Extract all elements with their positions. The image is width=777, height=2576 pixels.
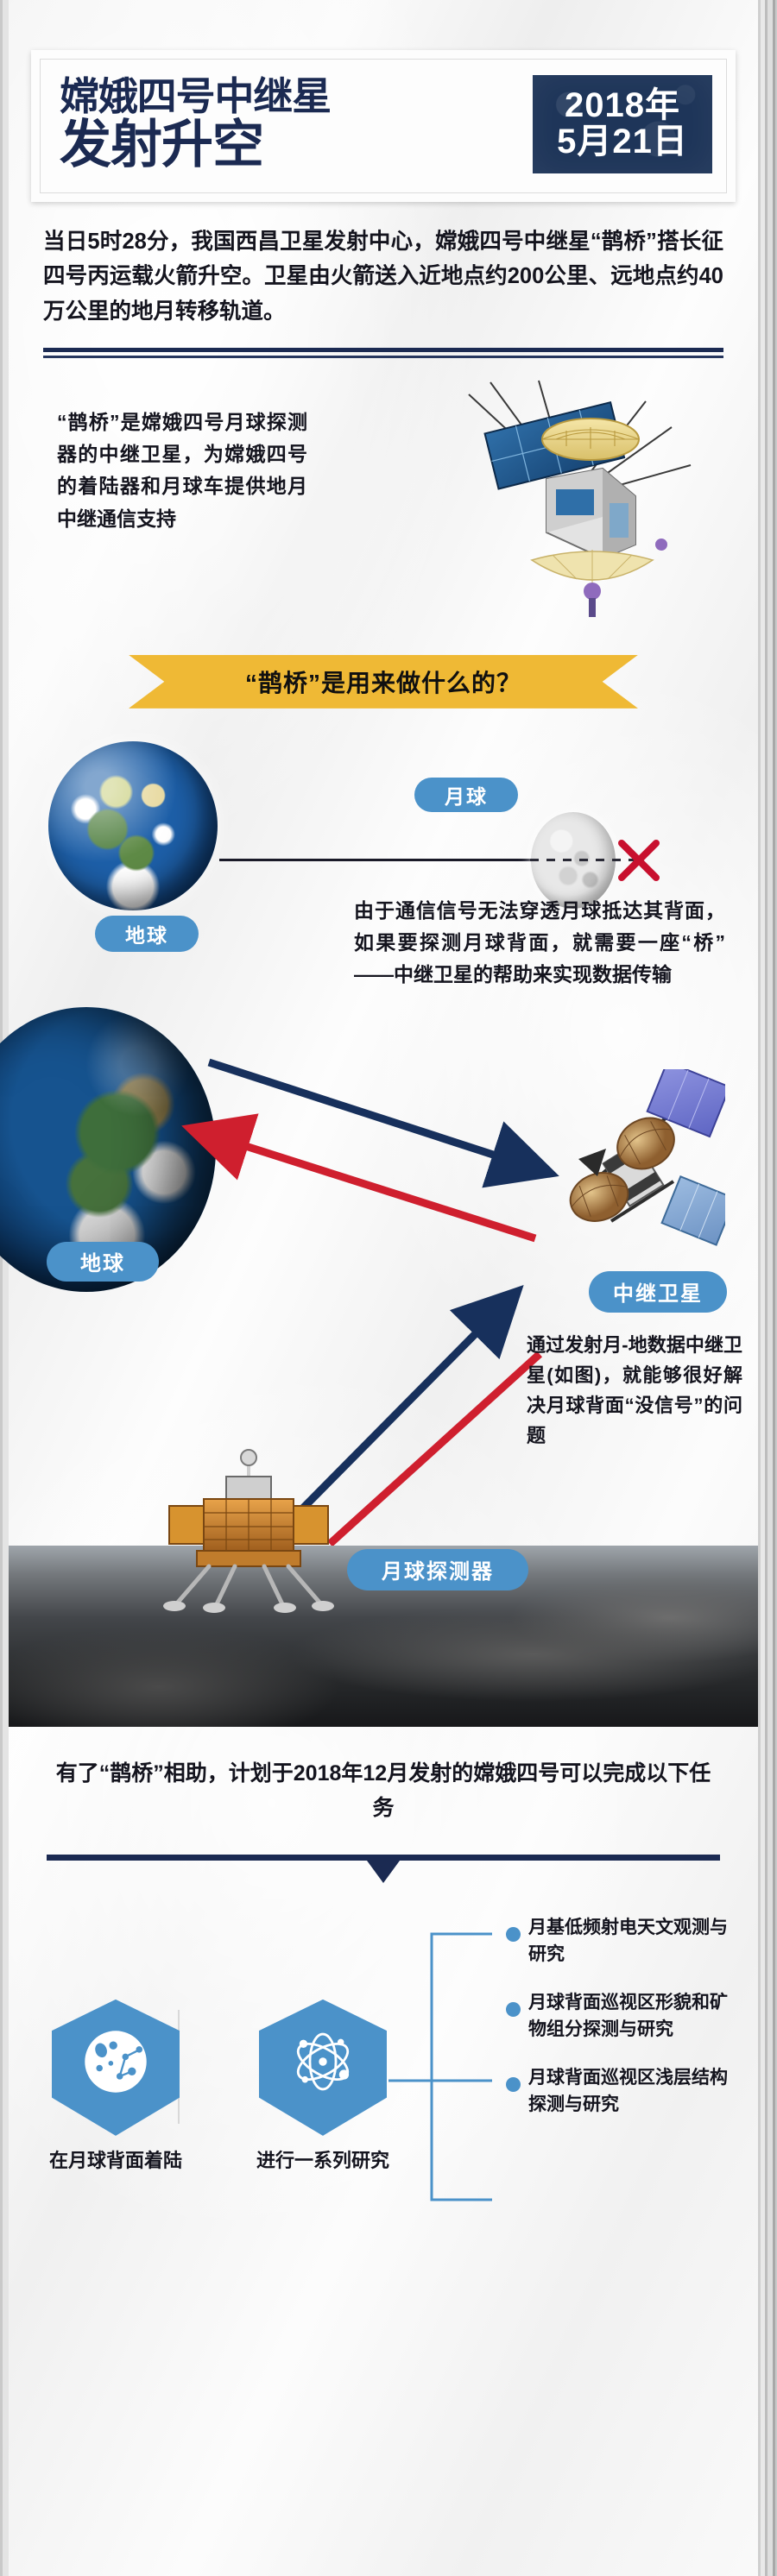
hex-label: 在月球背面着陆 [47,2148,185,2175]
label-lunar-probe: 月球探测器 [347,1549,528,1590]
satellite-section: “鹊桥”是嫦娥四号月球探测器的中继卫星，为嫦娥四号的着陆器和月球车提供地月中继通… [9,367,758,643]
ribbon-question: “鹊桥”是用来做什么的？ [129,655,638,709]
earth-globe-icon [48,741,218,910]
bullet-dot-icon [506,1927,521,1942]
signal-line [219,859,530,861]
page-title-line2: 发射升空 [60,118,325,171]
hex-badge [52,2000,180,2136]
hex-badge [259,2000,387,2136]
relay-satellite-icon [544,1069,725,1259]
list-item: 月球背面巡视区浅层结构探测与研究 [492,2065,742,2118]
task-label: 月球背面巡视区浅层结构探测与研究 [528,2065,742,2118]
tasks-body: 月基低频射电天文观测与研究 月球背面巡视区形貌和矿物组分探测与研究 月球背面巡视… [9,1898,758,2269]
lunar-lander-icon [154,1442,344,1615]
blocked-signal-explanation: 由于通信信号无法穿透月球抵达其背面，如果要探测月球背面，就需要一座“桥”——中继… [354,895,725,992]
atom-research-icon [282,2021,363,2102]
title-block: 嫦娥四号中继星 发射升空 [60,77,325,171]
date-day: 5月21日 [550,123,695,160]
header-card: 嫦娥四号中继星 发射升空 2018年 5月21日 [31,50,736,202]
hex-cell-research: 进行一系列研究 [254,2000,392,2175]
queqiao-relay-satellite-illustration [387,375,723,634]
list-item: 月球背面巡视区形貌和矿物组分探测与研究 [492,1990,742,2043]
hex-group: 在月球背面着陆 [47,2000,392,2175]
hex-cell-landing: 在月球背面着陆 [47,2000,185,2175]
earth-moon-section: 月球 地球 由于通信信号无法穿透月球抵达其背面，如果要探测月球背面，就需要一座“… [9,733,758,1017]
moon-surface-scene: 月球探测器 [9,1546,758,1727]
question-ribbon: “鹊桥”是用来做什么的？ [9,648,758,722]
header-inner: 嫦娥四号中继星 发射升空 2018年 5月21日 [40,59,727,193]
task-list: 月基低频射电天文观测与研究 月球背面巡视区形貌和矿物组分探测与研究 月球背面巡视… [492,1915,742,2141]
divider-triangle-icon [367,1861,400,1883]
task-label: 月基低频射电天文观测与研究 [528,1915,742,1968]
page-title-line1: 嫦娥四号中继星 [60,77,331,117]
bullet-dot-icon [506,2002,521,2017]
label-moon: 月球 [414,778,518,812]
relay-explanation: 通过发射月-地数据中继卫星(如图)，就能够很好解决月球背面“没信号”的问题 [527,1330,742,1452]
date-badge: 2018年 5月21日 [533,75,712,173]
date-year: 2018年 [550,87,695,123]
tasks-heading: 有了“鹊桥”相助，计划于2018年12月发射的嫦娥四号可以完成以下任务 [47,1756,720,1825]
label-earth: 地球 [95,916,199,952]
hex-label: 进行一系列研究 [254,2148,392,2175]
moon-crater-icon [75,2021,156,2102]
relay-diagram-section: 地球 中继卫星 通过发射月-地数据中继卫星(如图)，就能够很好解决月球背面“没信… [9,1019,758,1546]
blocked-x-icon [613,835,665,886]
list-item: 月基低频射电天文观测与研究 [492,1915,742,1968]
bullet-dot-icon [506,2077,521,2092]
satellite-description: “鹊桥”是嫦娥四号月球探测器的中继卫星，为嫦娥四号的着陆器和月球车提供地月中继通… [57,406,307,535]
page-left-edge [0,0,9,2576]
tasks-divider [9,1846,758,1880]
label-earth-relay: 地球 [47,1242,159,1282]
tasks-section: 有了“鹊桥”相助，计划于2018年12月发射的嫦娥四号可以完成以下任务 月基低频… [9,1727,758,2269]
label-relay-satellite: 中继卫星 [589,1271,727,1313]
infographic-content: 嫦娥四号中继星 发射升空 2018年 5月21日 当日5时28分，我国西昌卫星发… [9,0,758,2269]
page-right-edge [758,0,777,2576]
intro-paragraph: 当日5时28分，我国西昌卫星发射中心，嫦娥四号中继星“鹊桥”搭长征四号丙运载火箭… [43,224,723,329]
intro-divider-thick [43,348,723,352]
intro-divider-thin [43,356,723,358]
task-label: 月球背面巡视区形貌和矿物组分探测与研究 [528,1990,742,2043]
divider-line [47,1855,720,1861]
